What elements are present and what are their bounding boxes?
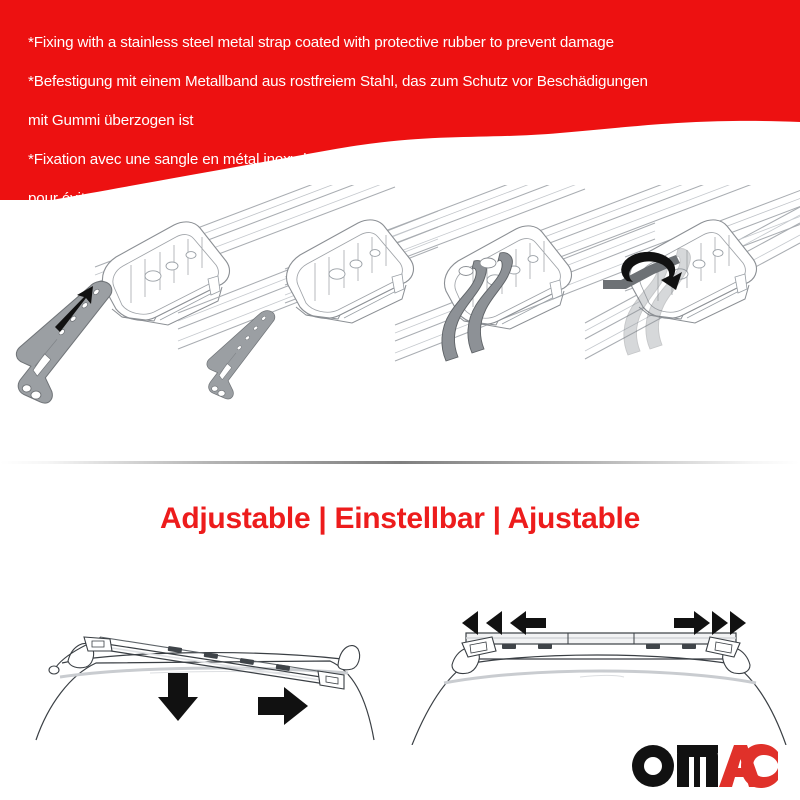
banner-line-de-2: mit Gummi überzogen ist [28,111,790,131]
logo-letter-o [632,745,674,787]
logo-letter-c [741,744,778,788]
omac-logo [628,740,778,792]
banner-line-en: *Fixing with a stainless steel metal str… [28,33,790,53]
step1-clamp-body [103,222,230,325]
banner-line-fr-1: *Fixation avec une sangle en métal inoxy… [28,150,790,170]
red-banner: *Fixing with a stainless steel metal str… [0,0,800,200]
assembly-step-4 [585,185,800,359]
instruction-graphic-page: *Fixing with a stainless steel metal str… [0,0,800,800]
assembly-steps-panel [0,185,800,460]
down-arrow-icon [158,673,198,721]
assembly-steps-illustration [0,185,800,460]
step1-metal-strap [14,281,116,404]
right-arrow-icon [258,687,308,725]
step3-clamp-body [445,226,572,329]
page-title: Adjustable | Einstellbar | Ajustable [0,500,800,538]
adjustable-diagrams-panel [0,555,800,745]
adjustable-illustration [0,555,800,745]
banner-line-fr-2: pour éviter les dommages. [28,189,790,200]
banner-line-de-1: *Befestigung mit einem Metallband aus ro… [28,72,790,92]
adjust-diagram-front-view [412,611,786,745]
banner-description-text: *Fixing with a stainless steel metal str… [28,13,790,200]
triple-right-arrow-icon [674,611,746,635]
omac-logo-wordmark [628,740,778,792]
adjust-diagram-side-view [36,637,374,740]
triple-left-arrow-icon [462,611,546,635]
logo-letter-m [677,745,718,787]
section-divider [0,461,800,464]
